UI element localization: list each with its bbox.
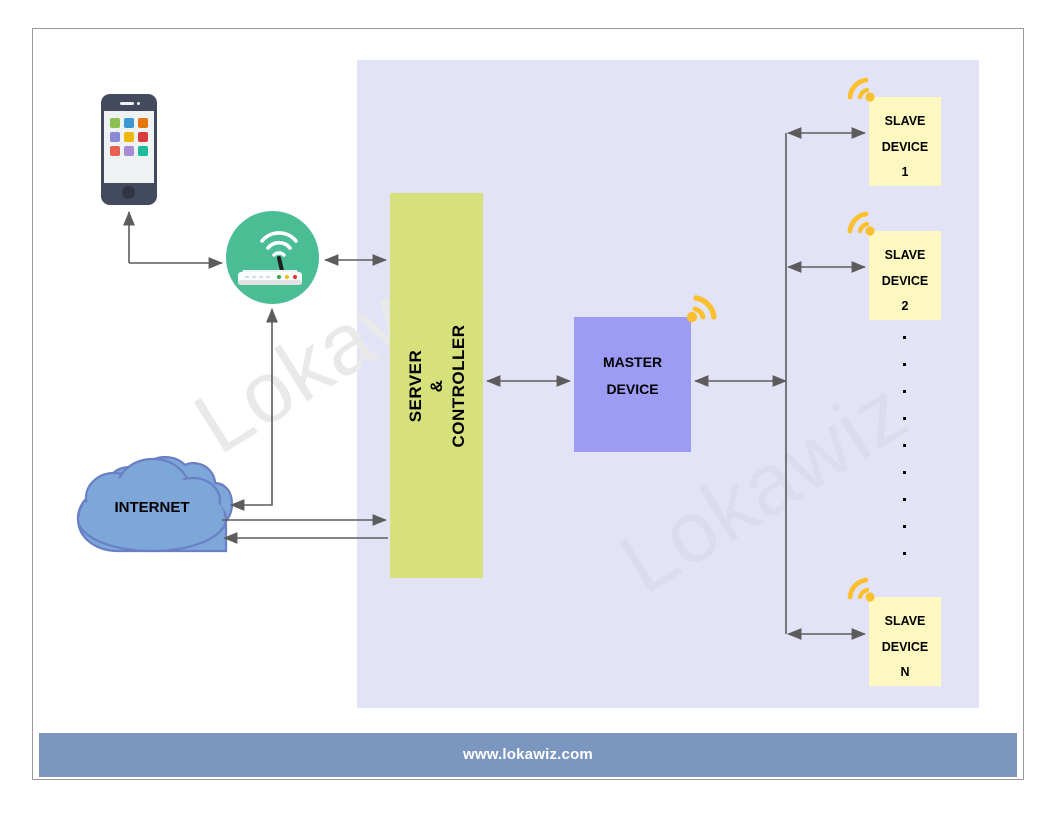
footer-bar: www.lokawiz.com	[39, 733, 1017, 777]
slave-device-2-box: SLAVE DEVICE 2	[869, 231, 941, 320]
ellipsis-dot	[903, 390, 906, 393]
slave2-line2: DEVICE	[882, 274, 929, 288]
phone-app-tile-1	[110, 118, 120, 128]
slave1-line3: 1	[902, 165, 909, 179]
diagram-canvas: HI-IoT 1.0 Lokawiz Lokawiz INTERNET SERV…	[0, 0, 1056, 816]
ellipsis-dot	[903, 471, 906, 474]
phone-app-grid	[110, 118, 148, 156]
slave-device-n-box: SLAVE DEVICE N	[869, 597, 941, 686]
phone-app-tile-3	[138, 118, 148, 128]
slaveN-line3: N	[900, 665, 909, 679]
phone-camera	[137, 102, 140, 105]
master-label-line1: MASTER	[603, 354, 662, 370]
master-device-box: MASTER DEVICE	[574, 317, 691, 452]
ellipsis-dot	[903, 336, 906, 339]
server-controller-label: SERVER & CONTROLLER	[405, 324, 469, 447]
phone-app-tile-2	[124, 118, 134, 128]
slaveN-line1: SLAVE	[885, 614, 926, 628]
phone-app-tile-8	[124, 146, 134, 156]
phone-home-button	[122, 186, 135, 199]
ellipsis-dot	[903, 417, 906, 420]
smartphone-icon	[101, 94, 157, 205]
slave1-line2: DEVICE	[882, 140, 929, 154]
server-label-line2: &	[427, 379, 446, 392]
slave-device-1-label: SLAVE DEVICE 1	[869, 109, 941, 186]
phone-speaker	[120, 102, 134, 105]
phone-app-tile-5	[124, 132, 134, 142]
slave-device-2-label: SLAVE DEVICE 2	[869, 243, 941, 320]
slave2-line3: 2	[902, 299, 909, 313]
slave-device-1-box: SLAVE DEVICE 1	[869, 97, 941, 186]
server-label-line3: CONTROLLER	[448, 324, 467, 447]
phone-app-tile-7	[110, 146, 120, 156]
ellipsis-dot	[903, 498, 906, 501]
server-label-line1: SERVER	[406, 349, 425, 422]
ellipsis-dot	[903, 363, 906, 366]
master-device-label: MASTER DEVICE	[574, 349, 691, 402]
ellipsis-dot	[903, 525, 906, 528]
master-label-line2: DEVICE	[606, 381, 658, 397]
internet-cloud: INTERNET	[78, 463, 226, 551]
internet-cloud-label: INTERNET	[78, 499, 226, 516]
phone-screen	[104, 111, 154, 183]
ellipsis-dot	[903, 444, 906, 447]
slave-devices-ellipsis	[901, 336, 907, 579]
phone-app-tile-4	[110, 132, 120, 142]
footer-url-text: www.lokawiz.com	[39, 746, 1017, 763]
slave-device-n-label: SLAVE DEVICE N	[869, 609, 941, 686]
server-controller-box: SERVER & CONTROLLER	[390, 193, 483, 578]
slave2-line1: SLAVE	[885, 248, 926, 262]
slave1-line1: SLAVE	[885, 114, 926, 128]
wifi-router-icon	[226, 211, 319, 304]
phone-app-tile-9	[138, 146, 148, 156]
slaveN-line2: DEVICE	[882, 640, 929, 654]
ellipsis-dot	[903, 552, 906, 555]
phone-app-tile-6	[138, 132, 148, 142]
